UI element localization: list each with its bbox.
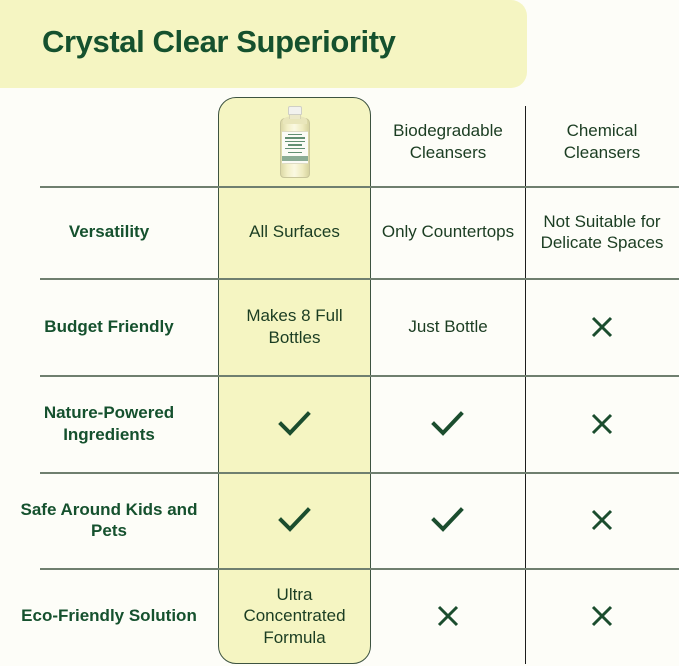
cell-value-biodegradable: Only Countertops: [374, 221, 522, 242]
table-row: Safe Around Kids and Pets: [0, 472, 679, 568]
row-biodegradable-cell: [371, 568, 525, 664]
comparison-table: Biodegradable Cleansers Chemical Cleanse…: [0, 88, 679, 666]
product-bottle-image: [277, 106, 313, 178]
check-icon: [430, 409, 466, 439]
row-feature-label: Versatility: [59, 221, 159, 242]
row-product-cell: Ultra Concentrated Formula: [218, 568, 371, 664]
row-chemical-cell: [525, 568, 679, 664]
row-product-cell: [218, 472, 371, 568]
table-header-row: Biodegradable Cleansers Chemical Cleanse…: [0, 97, 679, 186]
cell-value-chemical: Not Suitable for Delicate Spaces: [525, 211, 679, 254]
cell-value-product: Makes 8 Full Bottles: [218, 305, 371, 348]
column-header-label: Chemical Cleansers: [525, 120, 679, 163]
page-title: Crystal Clear Superiority: [42, 24, 396, 60]
row-feature-label-cell: Safe Around Kids and Pets: [0, 472, 218, 568]
row-feature-label-cell: Eco-Friendly Solution: [0, 568, 218, 664]
row-biodegradable-cell: [371, 472, 525, 568]
bottle-label: [282, 131, 308, 164]
table-row: Eco-Friendly Solution Ultra Concentrated…: [0, 568, 679, 664]
row-biodegradable-cell: Only Countertops: [371, 186, 525, 278]
header-cell-empty: [0, 97, 218, 186]
title-banner: Crystal Clear Superiority: [0, 0, 527, 88]
row-biodegradable-cell: [371, 375, 525, 472]
header-cell-biodegradable: Biodegradable Cleansers: [371, 97, 525, 186]
header-cell-chemical: Chemical Cleansers: [525, 97, 679, 186]
row-chemical-cell: Not Suitable for Delicate Spaces: [525, 186, 679, 278]
row-feature-label: Eco-Friendly Solution: [11, 605, 207, 626]
cross-icon: [588, 602, 616, 630]
column-header-label: Biodegradable Cleansers: [371, 120, 525, 163]
row-chemical-cell: [525, 278, 679, 375]
table-row: Versatility All Surfaces Only Countertop…: [0, 186, 679, 278]
row-feature-label: Nature-Powered Ingredients: [0, 402, 218, 445]
row-chemical-cell: [525, 375, 679, 472]
cell-value-biodegradable: Just Bottle: [400, 316, 495, 337]
row-biodegradable-cell: Just Bottle: [371, 278, 525, 375]
row-product-cell: [218, 375, 371, 472]
bottle-cap: [288, 106, 302, 115]
check-icon: [430, 505, 466, 535]
header-cell-product: [218, 97, 371, 186]
cross-icon: [434, 602, 462, 630]
cross-icon: [588, 506, 616, 534]
row-feature-label-cell: Budget Friendly: [0, 278, 218, 375]
table-row: Nature-Powered Ingredients: [0, 375, 679, 472]
cell-value-product: All Surfaces: [241, 221, 348, 242]
cross-icon: [588, 410, 616, 438]
row-feature-label-cell: Nature-Powered Ingredients: [0, 375, 218, 472]
row-feature-label: Safe Around Kids and Pets: [0, 499, 218, 542]
row-product-cell: Makes 8 Full Bottles: [218, 278, 371, 375]
table-row: Budget Friendly Makes 8 Full Bottles Jus…: [0, 278, 679, 375]
cell-value-product: Ultra Concentrated Formula: [218, 584, 371, 648]
check-icon: [277, 505, 313, 535]
row-feature-label: Budget Friendly: [34, 316, 183, 337]
cross-icon: [588, 313, 616, 341]
row-chemical-cell: [525, 472, 679, 568]
row-product-cell: All Surfaces: [218, 186, 371, 278]
check-icon: [277, 409, 313, 439]
row-feature-label-cell: Versatility: [0, 186, 218, 278]
